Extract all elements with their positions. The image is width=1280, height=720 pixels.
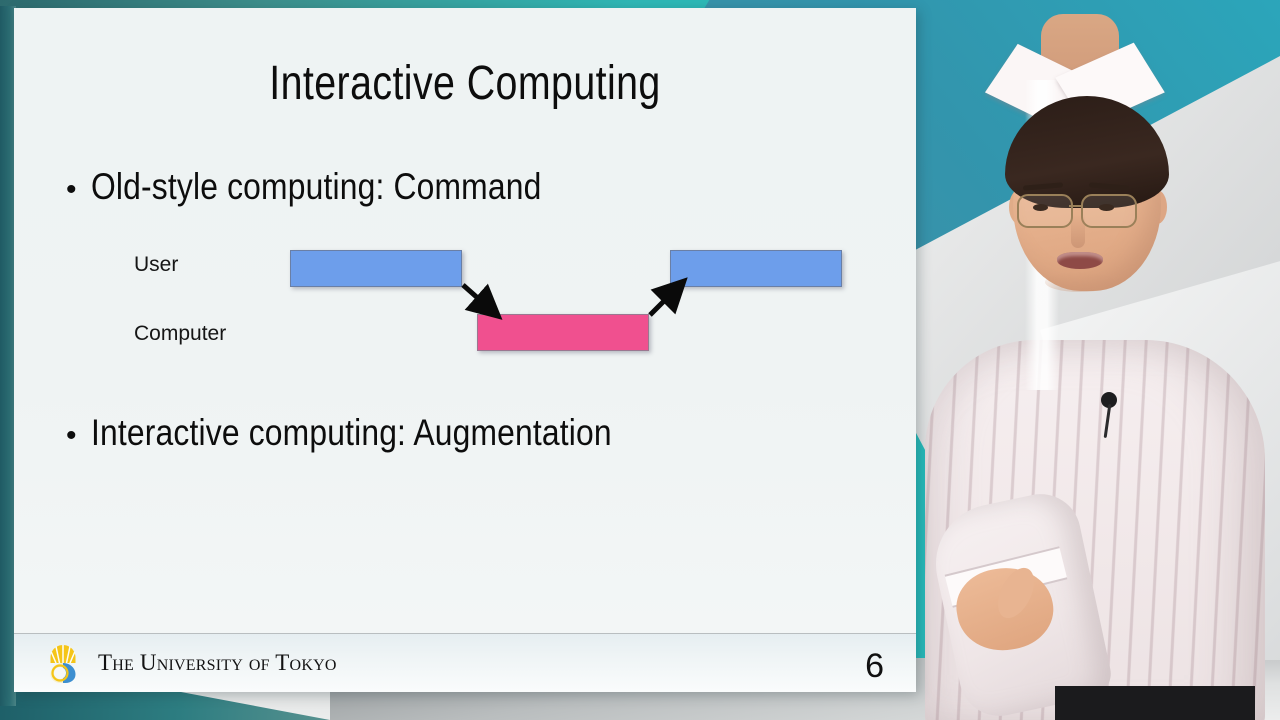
- diagram-label-computer: Computer: [134, 322, 226, 346]
- lecture-video-frame: Interactive Computing • Old-style comput…: [0, 0, 1280, 720]
- university-logo-icon: [40, 641, 86, 685]
- presenter-figure: [905, 0, 1280, 720]
- presenter-chin: [1045, 272, 1115, 292]
- presenter-foreground-dark-block: [1055, 686, 1255, 720]
- presenter-glasses-left-lens: [1017, 194, 1073, 228]
- footer-university-name: The University of Tokyo: [98, 650, 337, 676]
- arrow-computer-to-user: [650, 290, 675, 315]
- diagram-bar-computer-activity: [477, 314, 649, 351]
- presentation-slide: Interactive Computing • Old-style comput…: [14, 8, 916, 692]
- bullet-marker-icon: •: [66, 421, 77, 451]
- diagram-arrows: [14, 8, 916, 692]
- slide-footer: The University of Tokyo: [14, 634, 916, 692]
- presenter-mouth: [1057, 252, 1103, 269]
- slide-page-number: 6: [865, 647, 884, 686]
- presenter-nose: [1071, 214, 1085, 248]
- diagram-bar-user-activity-2: [670, 250, 842, 287]
- bullet-item-interactive: • Interactive computing: Augmentation: [66, 412, 696, 454]
- presenter-glasses-right-lens: [1081, 194, 1137, 228]
- presenter-eye-right: [1099, 204, 1114, 211]
- diagram-bar-user-activity-1: [290, 250, 462, 287]
- arrow-user-to-computer: [463, 285, 489, 308]
- presenter-glasses-bridge: [1069, 205, 1081, 207]
- bullet-text: Interactive computing: Augmentation: [91, 412, 612, 454]
- old-style-computing-diagram: User Computer: [14, 8, 916, 692]
- presenter-eye-left: [1033, 204, 1048, 211]
- diagram-label-user: User: [134, 253, 178, 277]
